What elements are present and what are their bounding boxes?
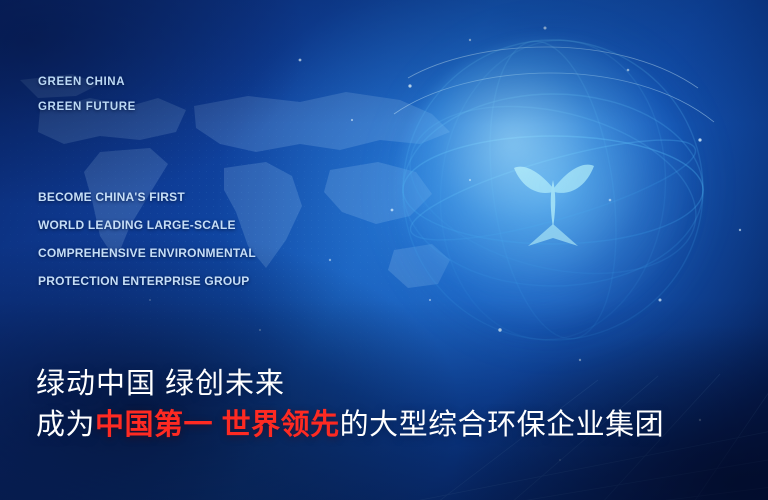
eyebrow-text: GREEN CHINA GREEN FUTURE: [38, 70, 136, 120]
eyebrow-line-1: GREEN CHINA: [38, 70, 136, 95]
eyebrow-line-2: GREEN FUTURE: [38, 95, 136, 120]
subhead-line-4: PROTECTION ENTERPRISE GROUP: [38, 267, 256, 295]
sprout-icon: [514, 165, 594, 246]
subhead-line-3: COMPREHENSIVE ENVIRONMENTAL: [38, 239, 256, 267]
subhead-line-1: BECOME CHINA'S FIRST: [38, 183, 256, 211]
headline-suffix: 的大型综合环保企业集团: [340, 409, 665, 441]
hero-banner: GREEN CHINA GREEN FUTURE BECOME CHINA'S …: [0, 0, 768, 500]
headline-prefix: 成为: [36, 409, 95, 441]
subhead-line-2: WORLD LEADING LARGE-SCALE: [38, 211, 256, 239]
headline-block: 绿动中国 绿创未来 成为中国第一 世界领先的大型综合环保企业集团: [36, 364, 736, 446]
subhead-text: BECOME CHINA'S FIRST WORLD LEADING LARGE…: [38, 183, 256, 295]
headline-line-1: 绿动中国 绿创未来: [36, 364, 736, 404]
headline-highlight: 中国第一 世界领先: [95, 409, 340, 441]
headline-line-2: 成为中国第一 世界领先的大型综合环保企业集团: [36, 404, 736, 446]
